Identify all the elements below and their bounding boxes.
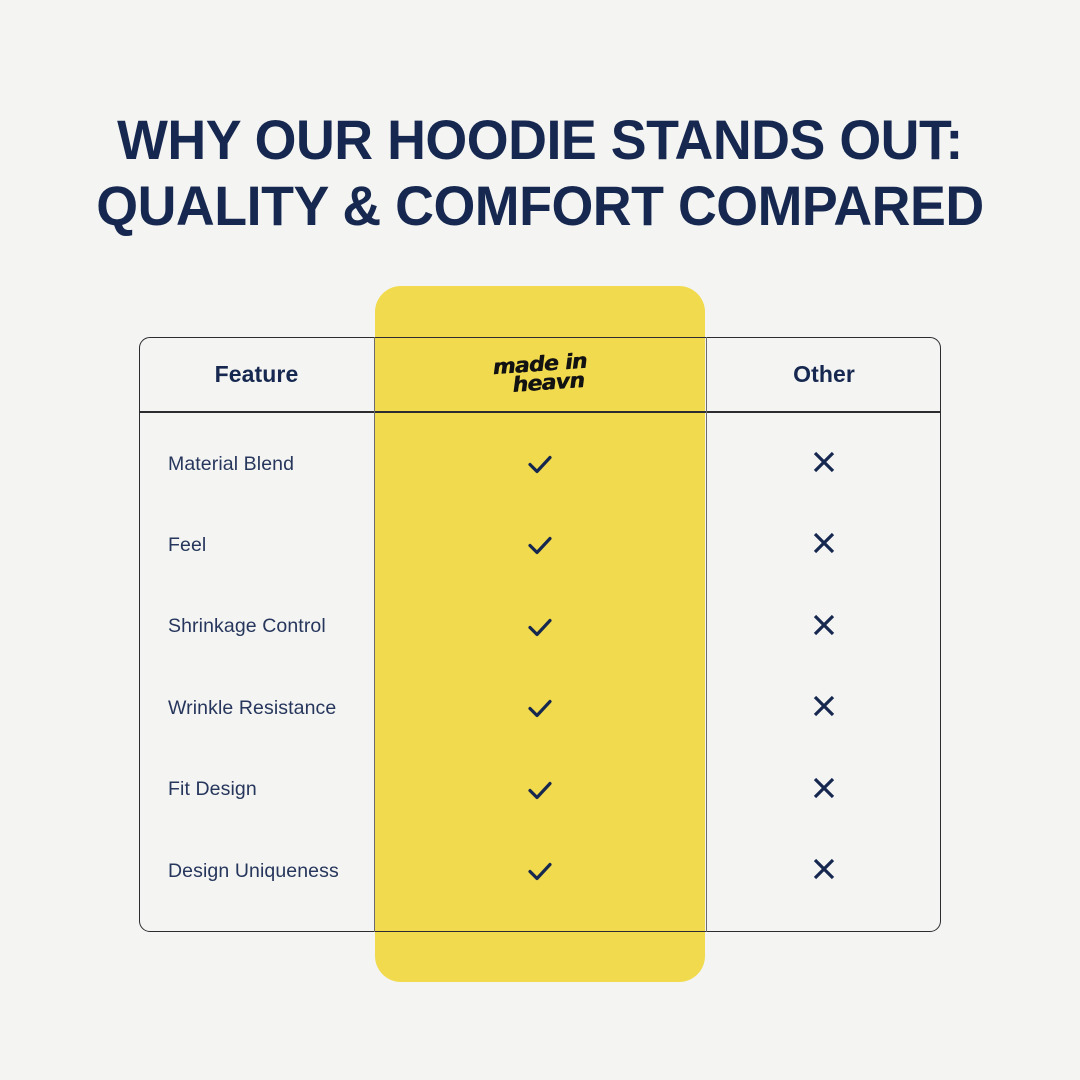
cross-icon — [707, 444, 941, 484]
column-header-feature-label: Feature — [215, 361, 299, 388]
brand-logo-line-2: heavn — [508, 371, 589, 396]
brand-logo: made in heavn — [492, 352, 589, 396]
check-icon — [375, 444, 705, 484]
feature-label: Design Uniqueness — [168, 851, 339, 891]
table-header-divider — [139, 411, 941, 413]
cross-icon — [707, 770, 941, 810]
table-row: Material Blend — [139, 444, 941, 484]
feature-label: Wrinkle Resistance — [168, 688, 336, 728]
column-header-brand: made in heavn — [375, 337, 705, 411]
column-header-feature: Feature — [139, 337, 374, 411]
cross-icon — [707, 851, 941, 891]
page-title: WHY OUR HOODIE STANDS OUT: QUALITY & COM… — [22, 112, 1059, 234]
column-header-other: Other — [707, 337, 941, 411]
page-title-line-2: QUALITY & COMFORT COMPARED — [22, 178, 1059, 234]
feature-label: Fit Design — [168, 770, 257, 810]
check-icon — [375, 770, 705, 810]
column-header-other-label: Other — [793, 361, 855, 388]
table-row: Wrinkle Resistance — [139, 688, 941, 728]
cross-icon — [707, 607, 941, 647]
page-title-line-1: WHY OUR HOODIE STANDS OUT: — [22, 112, 1059, 168]
feature-label: Shrinkage Control — [168, 607, 326, 647]
cross-icon — [707, 525, 941, 565]
feature-label: Material Blend — [168, 444, 294, 484]
feature-label: Feel — [168, 525, 206, 565]
check-icon — [375, 688, 705, 728]
table-row: Design Uniqueness — [139, 851, 941, 891]
check-icon — [375, 851, 705, 891]
check-icon — [375, 525, 705, 565]
cross-icon — [707, 688, 941, 728]
check-icon — [375, 607, 705, 647]
comparison-graphic: WHY OUR HOODIE STANDS OUT: QUALITY & COM… — [0, 0, 1080, 1080]
table-row: Fit Design — [139, 770, 941, 810]
table-row: Shrinkage Control — [139, 607, 941, 647]
table-row: Feel — [139, 525, 941, 565]
